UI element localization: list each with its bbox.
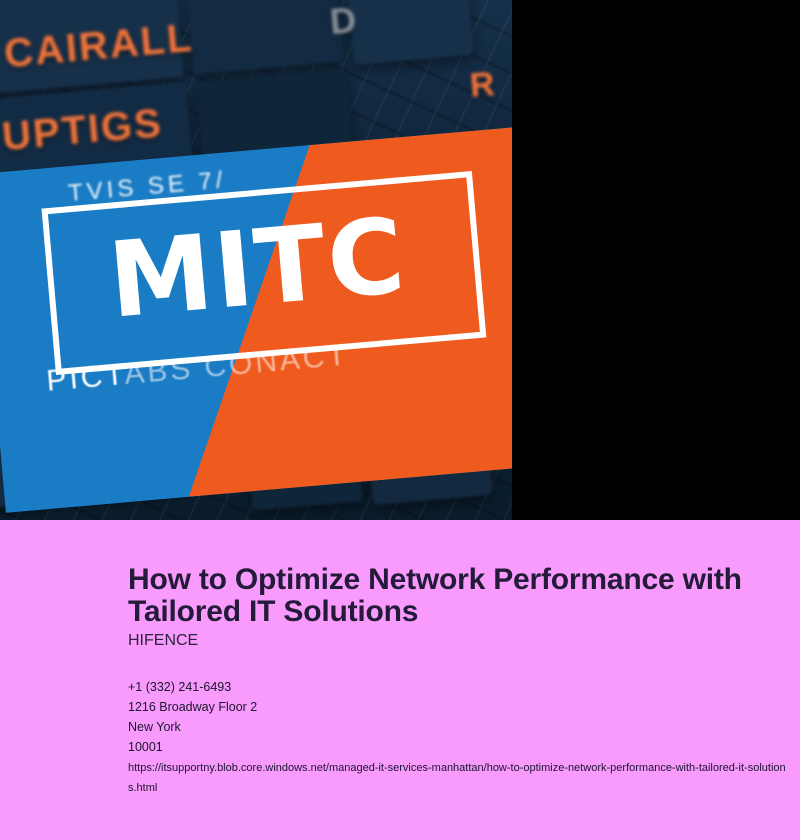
contact-block: +1 (332) 241-6493 1216 Broadway Floor 2 … — [128, 677, 788, 757]
background-text-line4: R — [468, 65, 498, 106]
sign-bottom-text-left: PICT — [45, 358, 126, 398]
keycap-blur — [346, 0, 473, 65]
sign-panel: TVIS SE 7/ MITC PICTABS CONACT — [0, 127, 512, 513]
phone-number: +1 (332) 241-6493 — [128, 677, 788, 697]
page-title: How to Optimize Network Performance with… — [128, 564, 773, 628]
zip-code: 10001 — [128, 737, 788, 757]
city: New York — [128, 717, 788, 737]
source-url[interactable]: https://itsupportny.blob.core.windows.ne… — [128, 758, 788, 798]
background-text-line3: D — [328, 0, 360, 43]
page-root: CAIRALL UPTIGS D R aaaa TVIS SE 7/ MITC … — [0, 0, 800, 840]
address-line: 1216 Broadway Floor 2 — [128, 697, 788, 717]
media-band: CAIRALL UPTIGS D R aaaa TVIS SE 7/ MITC … — [0, 0, 800, 520]
keycap-blur — [186, 0, 343, 74]
article-content: How to Optimize Network Performance with… — [0, 520, 800, 840]
hero-image: CAIRALL UPTIGS D R aaaa TVIS SE 7/ MITC … — [0, 0, 512, 520]
brand-name: HIFENCE — [128, 632, 198, 650]
